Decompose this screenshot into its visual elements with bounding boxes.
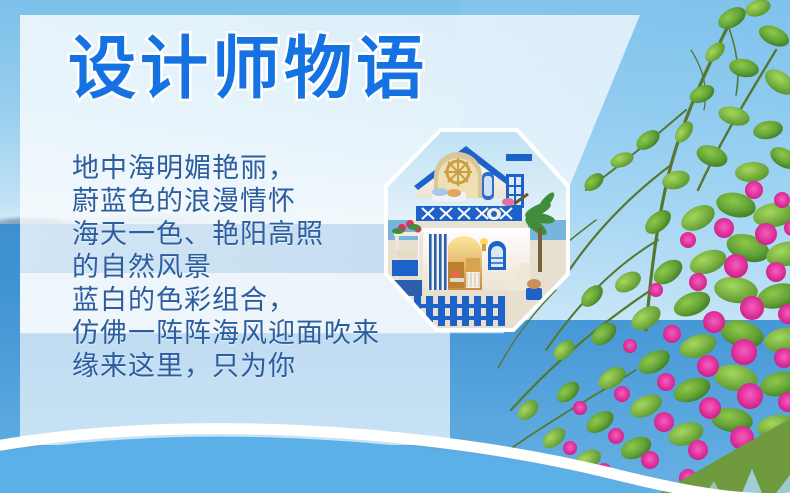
copy-line: 蔚蓝色的浪漫情怀	[72, 185, 380, 218]
product-photo-frame	[384, 128, 570, 332]
copy-line: 的自然风景	[72, 251, 380, 284]
copy-line: 地中海明媚艳丽，	[72, 152, 380, 185]
copy-line: 海天一色、艳阳高照	[72, 218, 380, 251]
designer-story-banner: 设计师物语 地中海明媚艳丽， 蔚蓝色的浪漫情怀 海天一色、艳阳高照 的自然风景 …	[0, 0, 790, 493]
copy-line: 蓝白的色彩组合，	[72, 284, 380, 317]
page-title: 设计师物语	[68, 36, 428, 104]
designer-story-copy: 地中海明媚艳丽， 蔚蓝色的浪漫情怀 海天一色、艳阳高照 的自然风景 蓝白的色彩组…	[72, 152, 380, 383]
product-photo-dollhouse	[388, 132, 566, 328]
bottom-swoosh-decoration	[0, 383, 790, 493]
copy-line: 缘来这里，只为你	[72, 350, 380, 383]
copy-line: 仿佛一阵阵海风迎面吹来	[72, 317, 380, 350]
